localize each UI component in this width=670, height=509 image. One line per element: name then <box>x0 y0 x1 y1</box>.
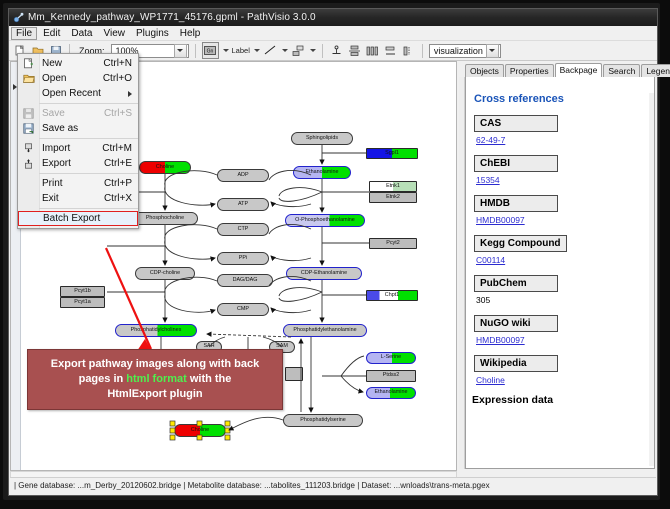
menu-item-label: Open Recent <box>39 88 128 99</box>
anchor-box[interactable] <box>285 367 303 381</box>
node-cdp-choline[interactable]: CDP-choline <box>135 267 195 280</box>
window-title: Mm_Kennedy_pathway_WP1771_45176.gpml - P… <box>28 12 316 23</box>
node-phosphocholine[interactable]: Phosphocholine <box>132 212 198 225</box>
datanode-tool-button[interactable]: Gn <box>202 42 219 59</box>
menu-item-save-as[interactable]: Save as <box>18 121 138 136</box>
toolbar-separator-3 <box>322 44 323 58</box>
xref-value[interactable]: 62-49-7 <box>476 135 654 145</box>
menu-item-label: Batch Export <box>40 213 137 224</box>
node-chpt1[interactable]: Chpt1 <box>366 290 418 301</box>
xref-value[interactable]: C00114 <box>476 255 654 265</box>
import-icon <box>18 141 39 156</box>
anchor-tool-button[interactable] <box>329 43 344 58</box>
xref-wikipedia: Wikipedia Choline <box>474 355 654 385</box>
node-atp[interactable]: ATP <box>217 198 269 211</box>
export-icon <box>18 156 39 171</box>
tab-backpage[interactable]: Backpage <box>555 63 603 77</box>
pathvisio-icon <box>13 12 24 23</box>
menu-item-accelerator: Ctrl+S <box>104 108 138 119</box>
xref-hmdb: HMDB HMDB00097 <box>474 195 654 225</box>
xref-source-label: Kegg Compound <box>474 235 567 252</box>
tab-properties[interactable]: Properties <box>505 64 554 77</box>
status-bar: | Gene database: ...m_Derby_20120602.bri… <box>10 477 656 493</box>
node-dag-dag[interactable]: DAG/DAG <box>217 274 273 287</box>
menu-item-label: Print <box>39 178 104 189</box>
annotation-arrow <box>106 248 153 354</box>
node-adp[interactable]: ADP <box>217 169 269 182</box>
menu-item-accelerator: Ctrl+M <box>102 143 138 154</box>
menu-file[interactable]: File <box>11 27 37 40</box>
visualization-chevron-down-icon[interactable] <box>486 44 499 58</box>
line-tool-button[interactable] <box>263 43 278 58</box>
xref-source-label: PubChem <box>474 275 558 292</box>
backpage-content: Cross references CAS 62-49-7 ChEBI 15354… <box>465 77 655 469</box>
datanode-chevron-down-icon[interactable] <box>223 49 229 52</box>
node-ppi[interactable]: PPi <box>217 252 269 265</box>
toolbar-separator-4 <box>422 44 423 58</box>
node-phosphatidylcholines[interactable]: Phosphatidylcholines <box>115 324 197 337</box>
open-folder-icon <box>18 71 39 86</box>
menu-item-new[interactable]: New Ctrl+N <box>18 56 138 71</box>
menu-separator-2 <box>39 138 138 139</box>
distribute-tool-button[interactable] <box>365 43 380 58</box>
callout-line-2-a: pages in <box>79 373 127 385</box>
menu-view[interactable]: View <box>98 27 130 40</box>
tab-legend[interactable]: Legend <box>641 64 670 77</box>
menu-item-label: Open <box>39 73 103 84</box>
menu-item-accelerator: Ctrl+X <box>104 193 138 204</box>
callout-line-1: Export pathway images along with back <box>51 358 259 370</box>
menu-item-import[interactable]: Import Ctrl+M <box>18 141 138 156</box>
svg-text:Gn: Gn <box>207 48 214 54</box>
group-tool-button[interactable] <box>401 43 416 58</box>
menu-item-label: Save as <box>39 123 132 134</box>
xref-value[interactable]: HMDB00097 <box>476 335 654 345</box>
file-menu-dropdown[interactable]: New Ctrl+N Open Ctrl+O Open Recent <box>17 53 139 229</box>
menu-separator-1 <box>39 103 138 104</box>
sidebar-vertical-scrollbar[interactable] <box>649 93 654 466</box>
callout-line-2-b: with the <box>187 373 232 385</box>
xref-link[interactable]: Choline <box>476 375 505 385</box>
menu-bar: File Edit Data View Plugins Help <box>9 26 657 41</box>
stack-tool-button[interactable] <box>383 43 398 58</box>
menu-data[interactable]: Data <box>66 27 97 40</box>
submenu-chevron-right-icon <box>128 91 132 97</box>
line-chevron-down-icon[interactable] <box>282 49 288 52</box>
menu-item-label: New <box>39 58 103 69</box>
xref-link[interactable]: 62-49-7 <box>476 135 505 145</box>
new-file-icon <box>18 56 39 71</box>
sidebar-tabs: Objects Properties Backpage Search Legen… <box>465 63 655 77</box>
visualization-combo[interactable]: visualization <box>429 44 501 58</box>
menu-item-label: Import <box>39 143 102 154</box>
xref-pubchem: PubChem 305 <box>474 275 654 305</box>
node-ethanolamine-2[interactable]: Ethanolamine <box>366 387 416 399</box>
node-pcyt1b[interactable]: Pcyt1b <box>60 286 105 297</box>
expression-data-title: Expression data <box>472 394 654 406</box>
sidebar-panel: Objects Properties Backpage Search Legen… <box>459 61 657 471</box>
menu-item-open-recent[interactable]: Open Recent <box>18 86 138 101</box>
annotation-callout: Export pathway images along with back pa… <box>27 349 283 410</box>
node-phosphatidylethanolamine[interactable]: Phosphatidylethanolamine <box>283 324 367 337</box>
xref-cas: CAS 62-49-7 <box>474 115 654 145</box>
tab-objects[interactable]: Objects <box>465 64 504 77</box>
xref-value: 305 <box>476 295 654 305</box>
xref-link[interactable]: 15354 <box>476 175 500 185</box>
xref-link[interactable]: C00114 <box>476 255 505 265</box>
xref-link[interactable]: HMDB00097 <box>476 215 525 225</box>
node-pcyt2[interactable]: Pcyt2 <box>369 238 417 249</box>
menu-item-label: Export <box>39 158 104 169</box>
node-phosphatidylserine[interactable]: Phosphatidylserine <box>283 414 363 427</box>
xref-source-label: CAS <box>474 115 558 132</box>
label-tool-button[interactable]: Label <box>232 46 250 55</box>
menu-item-export[interactable]: Export Ctrl+E <box>18 156 138 171</box>
empty-icon-slot <box>19 211 40 226</box>
xref-nugo-wiki: NuGO wiki HMDB00097 <box>474 315 654 345</box>
screenshot-root: Mm_Kennedy_pathway_WP1771_45176.gpml - P… <box>0 0 670 509</box>
menu-item-print[interactable]: Print Ctrl+P <box>18 176 138 191</box>
visualization-value: visualization <box>434 46 483 56</box>
node-etnk1[interactable]: Etnk1 <box>369 181 417 192</box>
xref-source-label: HMDB <box>474 195 558 212</box>
empty-icon-slot <box>18 176 39 191</box>
toolbar-separator-2 <box>195 44 196 58</box>
callout-highlight: html format <box>126 373 187 385</box>
node-sphingolipids[interactable]: Sphingolipids <box>291 132 353 145</box>
cross-references-title: Cross references <box>474 93 654 105</box>
menu-item-label: Save <box>39 108 104 119</box>
menu-item-exit[interactable]: Exit Ctrl+X <box>18 191 138 206</box>
xref-value[interactable]: 15354 <box>476 175 654 185</box>
menu-separator-4 <box>39 208 138 209</box>
shape-chevron-down-icon[interactable] <box>310 49 316 52</box>
title-bar: Mm_Kennedy_pathway_WP1771_45176.gpml - P… <box>9 9 657 26</box>
menu-edit[interactable]: Edit <box>38 27 65 40</box>
align-tool-button[interactable] <box>347 43 362 58</box>
node-ptdss2[interactable]: Ptdss2 <box>366 370 416 382</box>
node-choline[interactable]: Choline <box>139 161 191 174</box>
pathvisio-window: Mm_Kennedy_pathway_WP1771_45176.gpml - P… <box>8 8 658 496</box>
zoom-chevron-down-icon[interactable] <box>174 44 187 58</box>
node-pcyt1a[interactable]: Pcyt1a <box>60 297 105 308</box>
callout-line-3: HtmlExport plugin <box>107 388 202 400</box>
save-as-icon <box>18 121 39 136</box>
menu-plugins[interactable]: Plugins <box>131 27 174 40</box>
menu-item-accelerator: Ctrl+O <box>103 73 138 84</box>
menu-item-accelerator: Ctrl+E <box>104 158 138 169</box>
label-chevron-down-icon[interactable] <box>254 49 260 52</box>
node-sgpl1[interactable]: Sgpl1 <box>366 148 418 159</box>
menu-help[interactable]: Help <box>175 27 206 40</box>
menu-item-accelerator: Ctrl+P <box>104 178 138 189</box>
save-disk-icon <box>18 106 39 121</box>
xref-kegg-compound: Kegg Compound C00114 <box>474 235 654 265</box>
menu-item-label: Exit <box>39 193 104 204</box>
node-etnk2[interactable]: Etnk2 <box>369 192 417 203</box>
xref-value[interactable]: HMDB00097 <box>476 215 654 225</box>
shape-tool-button[interactable] <box>291 43 306 58</box>
node-ctp[interactable]: CTP <box>217 223 269 236</box>
menu-item-open[interactable]: Open Ctrl+O <box>18 71 138 86</box>
xref-source-label: ChEBI <box>474 155 558 172</box>
menu-separator-3 <box>39 173 138 174</box>
tab-search[interactable]: Search <box>603 64 640 77</box>
empty-icon-slot <box>18 191 39 206</box>
node-cmp[interactable]: CMP <box>217 303 269 316</box>
xref-source-label: Wikipedia <box>474 355 558 372</box>
menu-item-batch-export[interactable]: Batch Export <box>18 211 138 226</box>
node-cdp-ethanolamine[interactable]: CDP-Ethanolamine <box>286 267 362 280</box>
xref-chebi: ChEBI 15354 <box>474 155 654 185</box>
node-l-serine[interactable]: L-Serine <box>366 352 416 364</box>
node-o-phosphoethanolamine[interactable]: O-Phosphoethanolamine <box>285 214 365 227</box>
xref-link[interactable]: HMDB00097 <box>476 335 525 345</box>
node-ethanolamine[interactable]: Ethanolamine <box>293 166 351 179</box>
menu-item-save: Save Ctrl+S <box>18 106 138 121</box>
xref-value[interactable]: Choline <box>476 375 654 385</box>
status-text: | Gene database: ...m_Derby_20120602.bri… <box>10 481 490 490</box>
empty-icon-slot <box>18 86 39 101</box>
menu-item-accelerator: Ctrl+N <box>103 58 138 69</box>
xref-source-label: NuGO wiki <box>474 315 558 332</box>
